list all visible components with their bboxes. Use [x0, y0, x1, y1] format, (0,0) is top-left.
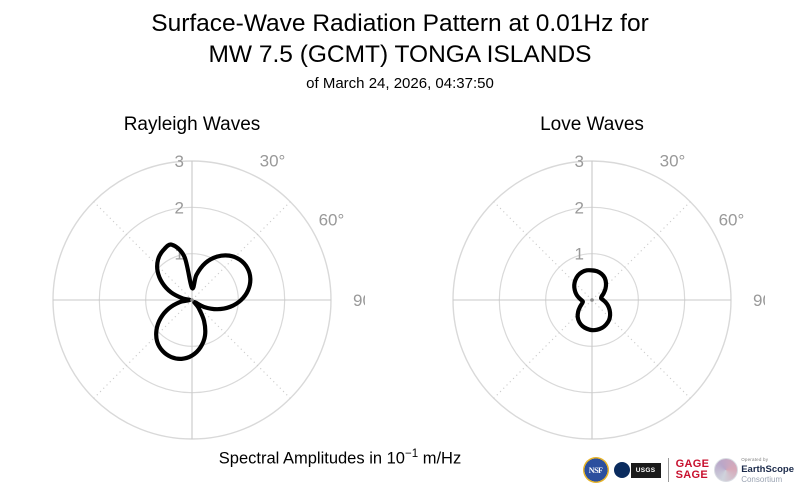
- radiation-pattern-curve: [156, 245, 250, 359]
- nsf-logo: NSF: [583, 457, 609, 483]
- caption-suffix: m/Hz: [418, 450, 461, 468]
- angular-gridline: [592, 300, 690, 398]
- earthscope-consortium: Consortium: [741, 475, 794, 485]
- radial-tick-label: 2: [175, 198, 184, 217]
- radial-tick-label: 3: [575, 152, 584, 171]
- love-polar-plot: 12330°60°90°: [420, 145, 765, 450]
- figure-caption: Spectral Amplitudes in 10−1 m/Hz: [0, 448, 680, 469]
- rayleigh-plot-group: 12330°60°90°: [53, 152, 365, 439]
- title-line-1: Surface-Wave Radiation Pattern at 0.01Hz…: [0, 8, 800, 39]
- angular-tick-label: 30°: [260, 152, 286, 171]
- rayleigh-polar-svg: 12330°60°90°: [20, 145, 365, 445]
- origin-marker: [190, 298, 194, 302]
- angular-tick-label: 30°: [660, 152, 686, 171]
- figure-subtitle: of March 24, 2026, 04:37:50: [0, 73, 800, 95]
- caption-prefix: Spectral Amplitudes in 10: [219, 450, 405, 468]
- radiation-pattern-figure: Surface-Wave Radiation Pattern at 0.01Hz…: [0, 0, 800, 493]
- nsf-logo-text: NSF: [589, 466, 603, 475]
- usgs-logo-mark: [614, 462, 630, 478]
- angular-gridline: [94, 300, 192, 398]
- love-plot-group: 12330°60°90°: [453, 152, 765, 439]
- earthscope-logo-text: Operated by EarthScope Consortium: [741, 455, 794, 485]
- angular-tick-label: 90°: [353, 291, 365, 310]
- earthscope-name: EarthScope: [741, 465, 794, 475]
- radial-tick-label: 1: [575, 245, 584, 264]
- logo-bar: NSF USGS GAGE SAGE Operated by EarthScop…: [583, 455, 794, 485]
- radial-tick-label: 2: [575, 198, 584, 217]
- earthscope-logo: Operated by EarthScope Consortium: [714, 455, 794, 485]
- usgs-logo: USGS: [614, 462, 661, 478]
- title-line-2: MW 7.5 (GCMT) TONGA ISLANDS: [0, 39, 800, 70]
- earthscope-logo-mark: [714, 458, 738, 482]
- figure-title-block: Surface-Wave Radiation Pattern at 0.01Hz…: [0, 8, 800, 95]
- angular-tick-label: 90°: [753, 291, 765, 310]
- radial-tick-label: 3: [175, 152, 184, 171]
- love-polar-svg: 12330°60°90°: [420, 145, 765, 445]
- angular-gridline: [192, 300, 290, 398]
- angular-tick-label: 60°: [319, 211, 345, 230]
- sage-label: SAGE: [676, 470, 710, 481]
- love-panel-title: Love Waves: [462, 114, 722, 136]
- gage-sage-logo: GAGE SAGE: [676, 459, 710, 481]
- rayleigh-polar-plot: 12330°60°90°: [20, 145, 365, 450]
- caption-exponent: −1: [405, 448, 418, 460]
- rayleigh-panel-title: Rayleigh Waves: [62, 114, 322, 136]
- angular-tick-label: 60°: [719, 211, 745, 230]
- usgs-logo-word: USGS: [631, 463, 661, 478]
- angular-gridline: [192, 202, 290, 300]
- logo-divider: [668, 458, 669, 482]
- origin-marker: [590, 298, 594, 302]
